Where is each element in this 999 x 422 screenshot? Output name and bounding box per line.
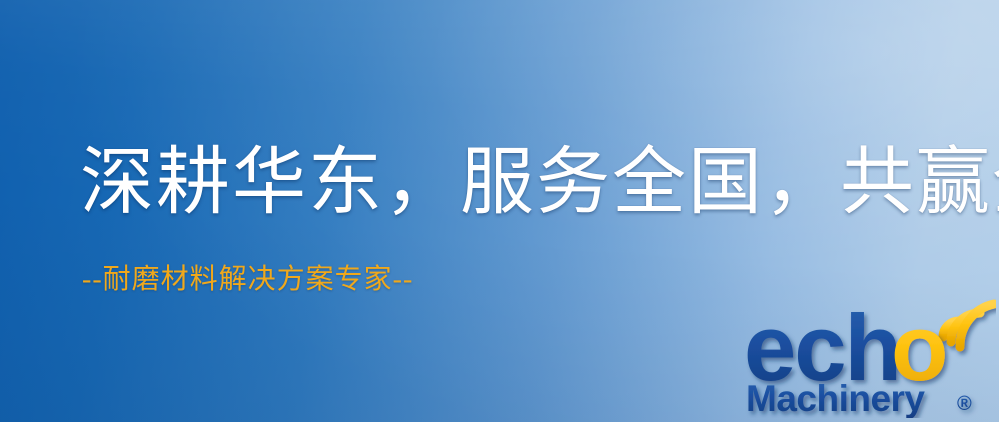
echo-machinery-logo[interactable]: ech o Machinery ® — [744, 296, 996, 418]
logo-registered-mark: ® — [957, 393, 972, 415]
logo-tagline: Machinery — [746, 378, 925, 418]
banner-subheadline: --耐磨材料解决方案专家-- — [82, 266, 413, 294]
signal-waves-icon — [943, 304, 994, 347]
banner-headline: 深耕华东，服务全国，共赢全球 — [80, 146, 999, 220]
hero-banner: 深耕华东，服务全国，共赢全球 --耐磨材料解决方案专家-- — [0, 0, 999, 422]
